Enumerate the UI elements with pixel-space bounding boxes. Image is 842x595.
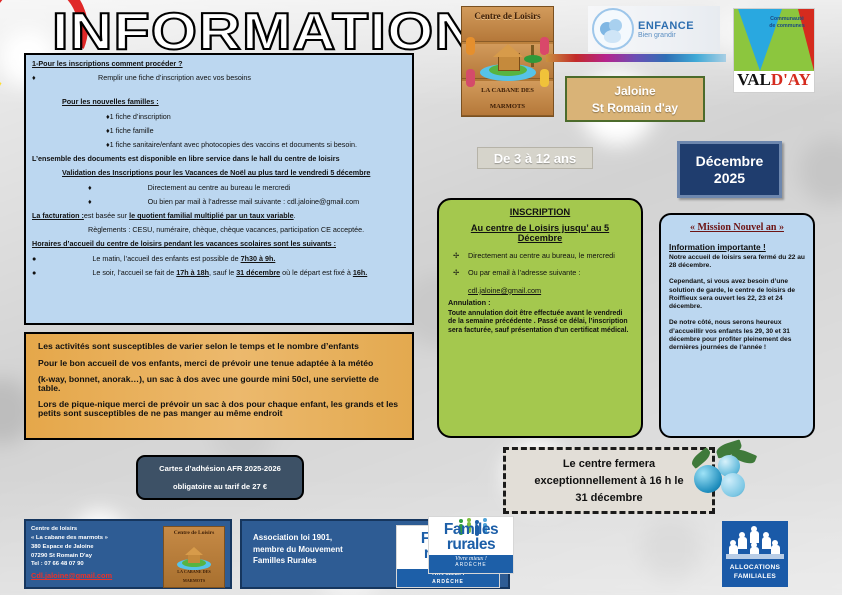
valday-communaute-text: Communautéde communes — [764, 16, 810, 29]
poster-page: INFORMATIONS 1-Pour les inscriptions com… — [0, 0, 842, 595]
inscription-subheading: Au centre de Loisirs jusqu’ au 5 Décembr… — [448, 223, 632, 244]
inscription-panel: INSCRIPTION Au centre de Loisirs jusqu’ … — [437, 198, 643, 438]
decorative-gradient-bar — [546, 54, 726, 62]
bullet-diamond-icon: ✢ — [448, 269, 464, 277]
mission-nouvel-an-panel: « Mission Nouvel an » Information import… — [659, 213, 815, 438]
billing-text: est basée sur — [84, 211, 129, 220]
mission-title: « Mission Nouvel an » — [669, 222, 805, 235]
month-badge: Décembre 2025 — [677, 141, 782, 198]
bullet-dot-icon: ● — [32, 254, 36, 263]
new-family-item: 1 fiche d’inscription — [110, 112, 171, 121]
membership-card-notice: Cartes d’adhésion AFR 2025-2026 obligato… — [136, 455, 304, 500]
footer-logo-subtitle-1: LA CABANE DES — [164, 569, 224, 575]
billing-period: . — [294, 211, 296, 220]
activities-line: Pour le bon accueil de vos enfants, merc… — [38, 359, 400, 368]
enfance-circle-icon — [592, 8, 634, 50]
age-range-badge: De 3 à 12 ans — [477, 147, 593, 169]
inscription-heading: INSCRIPTION — [448, 207, 632, 218]
activities-panel: Les activités sont susceptibles de varie… — [24, 332, 414, 440]
kid-figure-icon — [466, 37, 475, 55]
familles-wordmark: Famlles rurales — [429, 523, 513, 552]
closing-line-3: 31 décembre — [575, 492, 642, 504]
inscription-email[interactable]: cdl.jaloine@gmail.com — [468, 287, 632, 295]
closing-line-2: exceptionnellement à 16 h le — [534, 475, 683, 487]
bullet-diamond-icon: ♦ — [88, 197, 92, 206]
jaloine-line-2: St Romain d'ay — [592, 101, 678, 115]
membership-line-1: Cartes d’adhésion AFR 2025-2026 — [159, 464, 281, 473]
mission-paragraph-2: Cependant, si vous avez besoin d’une sol… — [669, 278, 805, 311]
cabane-des-marmots-logo: Centre de Loisirs LA CABANE DES MARMOTS — [461, 6, 554, 117]
enfance-title: ENFANCE — [638, 20, 694, 32]
validation-item: Ou bien par mail à l’adresse mail suivan… — [148, 197, 359, 206]
contact-panel: Centre de loisirs « La cabane des marmot… — [24, 519, 232, 589]
valday-logo: Communautéde communes VALD'AY — [733, 8, 815, 93]
logo-subtitle-1: LA CABANE DES — [462, 87, 553, 94]
billing-formula: le quotient familial multiplié par un ta… — [129, 211, 294, 220]
logo-subtitle-2: MARMOTS — [462, 103, 553, 110]
island-illustration — [480, 41, 536, 81]
billing-label: La facturation : — [32, 211, 84, 220]
bullet-diamond-icon: ♦ — [88, 183, 92, 192]
information-panel: 1-Pour les inscriptions comment procéder… — [24, 53, 414, 325]
caf-line-2: FAMILIALES — [722, 573, 788, 580]
bullet-diamond-icon: ✢ — [448, 252, 464, 260]
month-year: 2025 — [714, 170, 745, 186]
bullet-dot-icon: ● — [32, 268, 36, 277]
valday-wordmark: VALD'AY — [734, 70, 814, 90]
caf-line-1: ALLOCATIONS — [722, 564, 788, 571]
inscription-item-2: Ou par email à l’adresse suivante : — [468, 269, 580, 277]
christmas-baubles-icon — [688, 443, 756, 503]
closing-line-1: Le centre fermera — [563, 458, 655, 470]
procedure-item: Remplir une fiche d’inscription avec vos… — [98, 73, 251, 82]
enfance-tagline: Bien grandir — [638, 32, 694, 39]
validation-title: Validation des Inscriptions pour les Vac… — [62, 168, 370, 177]
hours-morning: Le matin, l’accueil des enfants est poss… — [92, 254, 275, 263]
payment-methods: Règlements : CESU, numéraire, chèque, ch… — [88, 225, 364, 234]
new-family-item: 1 fiche famille — [110, 126, 154, 135]
membership-line-2: obligatoire au tarif de 27 € — [173, 482, 267, 491]
kid-figure-icon — [540, 69, 549, 87]
new-family-item: 1 fiche sanitaire/enfant avec photocopie… — [110, 140, 357, 149]
kid-figure-icon — [540, 37, 549, 55]
important-info-title: Information importante ! — [669, 242, 805, 253]
footer-logo-subtitle-2: MARMOTS — [164, 578, 224, 584]
activities-line: Les activités sont susceptibles de varie… — [38, 342, 400, 351]
jaloine-line-1: Jaloine — [614, 84, 655, 98]
mission-paragraph-1: Notre accueil de loisirs sera fermé du 2… — [669, 254, 805, 270]
familles-region: ARDÈCHE — [397, 579, 499, 586]
caf-logo: ALLOCATIONS FAMILIALES — [722, 521, 788, 587]
footer-cabane-logo: Centre de Loisirs LA CABANE DES MARMOTS — [163, 526, 225, 588]
new-families-title: Pour les nouvelles familles : — [62, 97, 159, 106]
procedure-question: 1-Pour les inscriptions comment procéder… — [32, 59, 183, 68]
inscription-item-1: Directement au centre au bureau, le merc… — [468, 252, 615, 260]
logo-title: Centre de Loisirs — [462, 11, 553, 21]
documents-availability: L’ensemble des documents est disponible … — [32, 154, 340, 163]
bullet-diamond-icon: ♦ — [32, 74, 42, 81]
closing-notice: Le centre fermera exceptionnellement à 1… — [503, 447, 715, 514]
month-name: Décembre — [696, 153, 764, 169]
kid-figure-icon — [466, 69, 475, 87]
validation-item: Directement au centre au bureau le mercr… — [148, 183, 291, 192]
enfance-logo: ENFANCE Bien grandir — [588, 6, 720, 52]
familles-rurales-logo-standalone: Famlles rurales Vivre mieux ! ARDÈCHE — [428, 516, 514, 574]
hours-evening: Le soir, l’accueil se fait de 17h à 18h,… — [92, 268, 367, 277]
activities-line: (k-way, bonnet, anorak…), un sac à dos a… — [38, 375, 400, 392]
hours-title: Horaires d’accueil du centre de loisirs … — [32, 239, 336, 248]
mission-paragraph-3: De notre côté, nous serons heureux d’acc… — [669, 319, 805, 352]
cancellation-title: Annulation : — [448, 299, 632, 307]
familles-tagline-strip: Vivre mieux ! ARDÈCHE — [429, 555, 513, 573]
cancellation-text: Toute annulation doit être effectuée ava… — [448, 310, 632, 336]
footer-logo-title: Centre de Loisirs — [164, 529, 224, 537]
activities-line: Lors de pique-nique merci de prévoir un … — [38, 400, 400, 417]
familles-region: ARDÈCHE — [429, 562, 513, 568]
jaloine-location-plate: Jaloine St Romain d'ay — [565, 76, 705, 122]
